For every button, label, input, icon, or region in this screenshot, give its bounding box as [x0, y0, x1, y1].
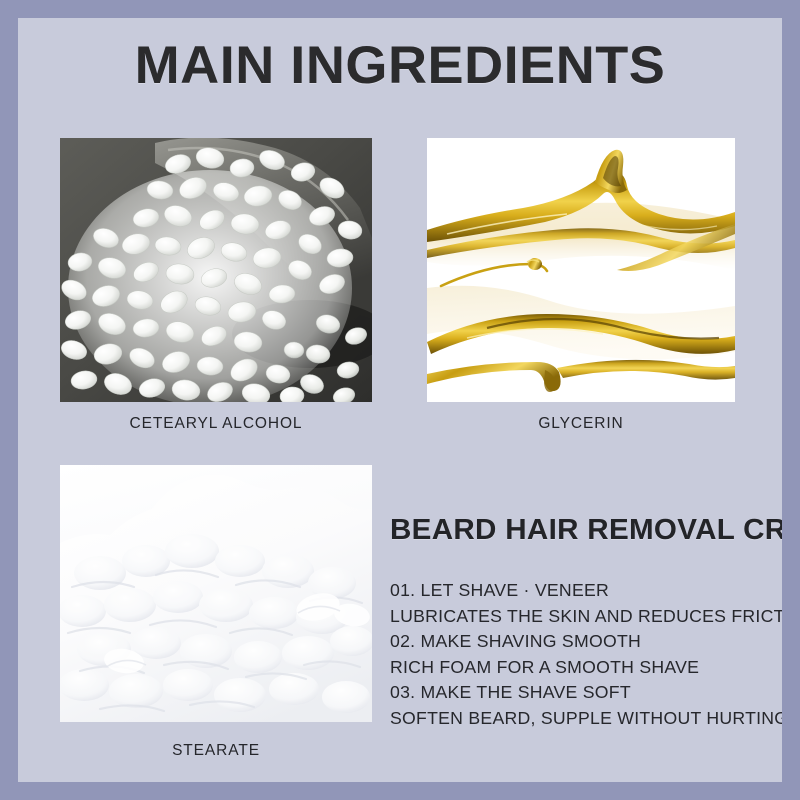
page-title: MAIN INGREDIENTS: [18, 38, 782, 94]
ingredient-caption-stearate: STEARATE: [60, 742, 372, 760]
glycerin-oil-illustration: [427, 138, 735, 402]
ingredient-caption-glycerin: GLYCERIN: [427, 415, 735, 433]
feature-line: 01. LET SHAVE · VENEER: [390, 578, 782, 604]
feature-line: LUBRICATES THE SKIN AND REDUCES FRICTION: [390, 604, 782, 630]
feature-line: RICH FOAM FOR A SMOOTH SHAVE: [390, 655, 782, 681]
poster-inner-panel: MAIN INGREDIENTS: [18, 18, 782, 782]
product-heading: BEARD HAIR REMOVAL CREAM: [390, 514, 782, 546]
feature-line: 03. MAKE THE SHAVE SOFT: [390, 680, 782, 706]
product-feature-list: 01. LET SHAVE · VENEER LUBRICATES THE SK…: [390, 578, 782, 731]
ingredients-poster: MAIN INGREDIENTS: [0, 0, 800, 800]
wax-pellets-photo: [60, 138, 372, 402]
ingredient-caption-cetearyl-alcohol: CETEARYL ALCOHOL: [60, 415, 372, 433]
stearate-powder-photo: [60, 465, 372, 722]
feature-line: SOFTEN BEARD, SUPPLE WITHOUT HURTING THE…: [390, 706, 782, 732]
glycerin-oil-photo: [427, 138, 735, 402]
wax-pellets-image: [60, 138, 372, 402]
feature-line: 02. MAKE SHAVING SMOOTH: [390, 629, 782, 655]
wax-pellets-illustration: [60, 138, 372, 402]
stearate-powder-illustration: [60, 465, 372, 722]
